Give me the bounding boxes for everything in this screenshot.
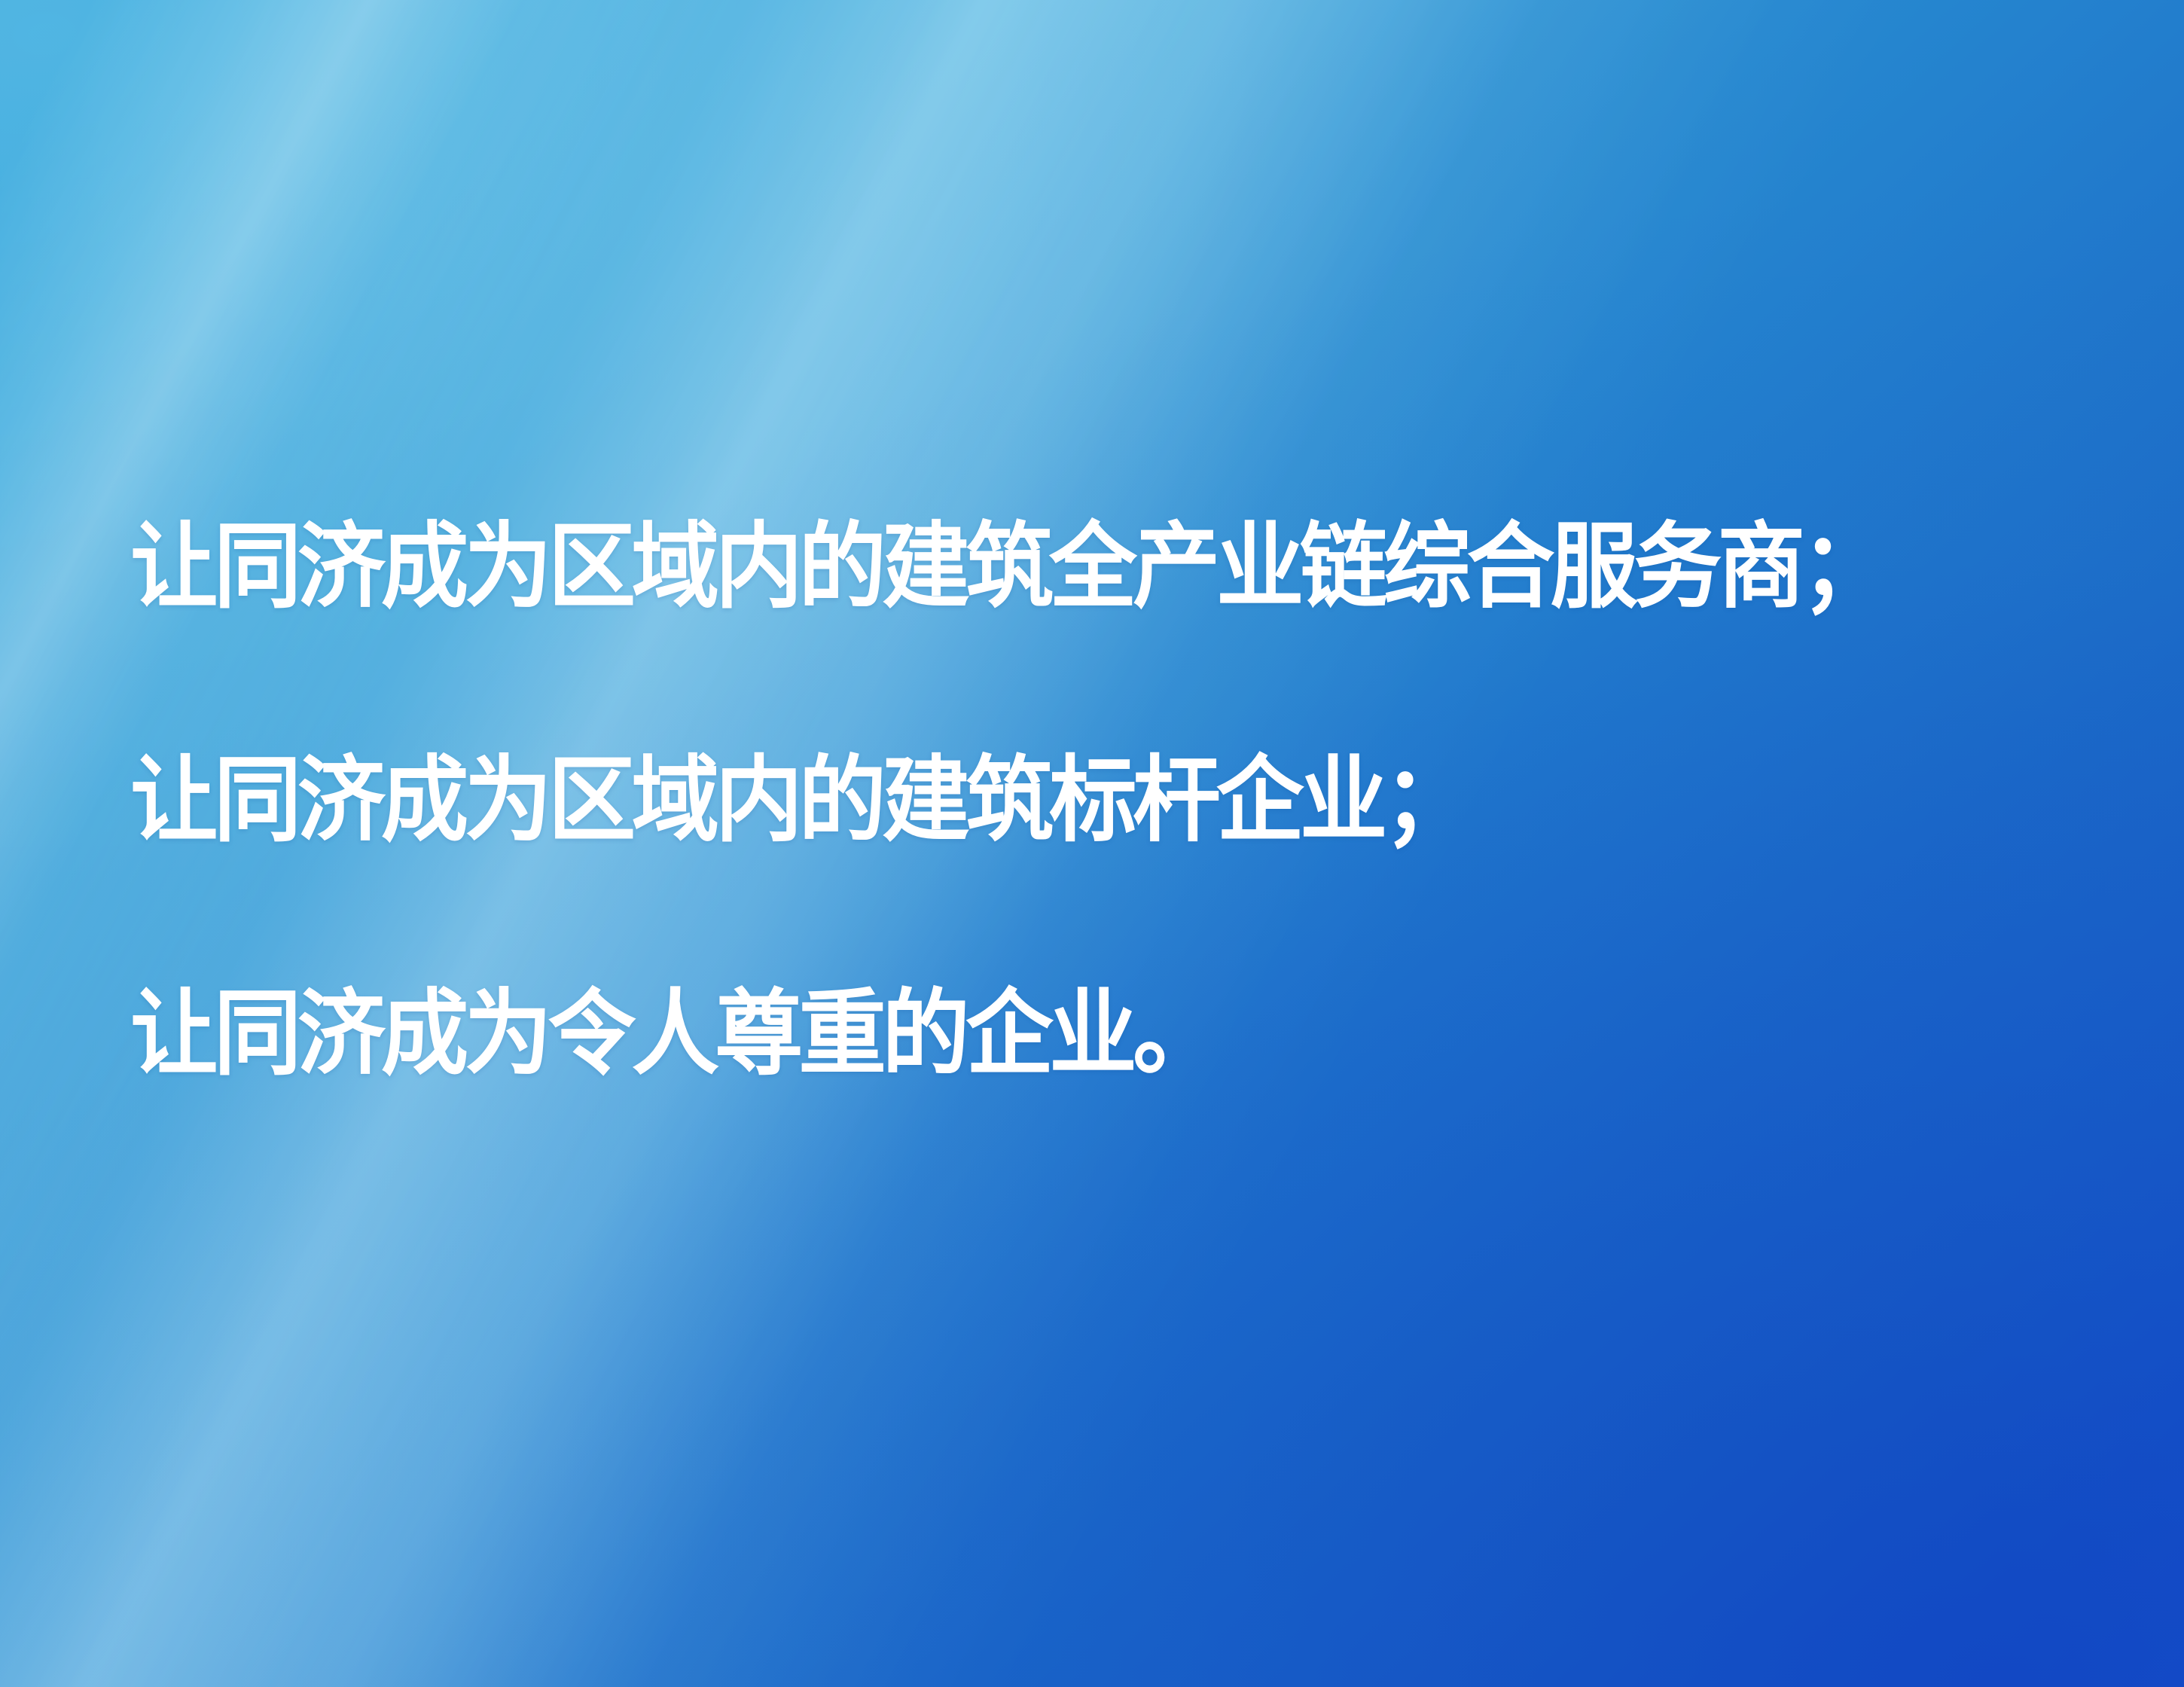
slogan-text-block: 让同济成为区域内的建筑全产业链综合服务商； 让同济成为区域内的建筑标杆企业； 让… [130,450,2058,1151]
slogan-line-2: 让同济成为区域内的建筑标杆企业； [130,684,1942,917]
slogan-line-3: 让同济成为令人尊重的企业。 [130,917,1942,1151]
slogan-line-1: 让同济成为区域内的建筑全产业链综合服务商； [130,450,1942,684]
presentation-slide: 让同济成为区域内的建筑全产业链综合服务商； 让同济成为区域内的建筑标杆企业； 让… [0,0,2184,1687]
